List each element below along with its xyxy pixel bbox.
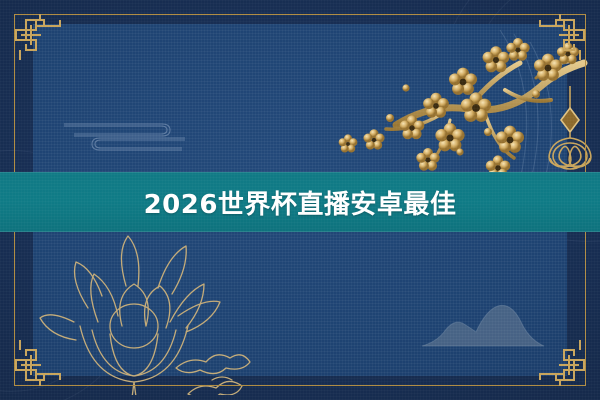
poster-banner: 2026世界杯直播安卓最佳 [0,0,600,400]
fret-corner-ornament-bottom-left [10,336,64,390]
poster-headline: 2026世界杯直播安卓最佳 [144,184,457,221]
fret-corner-ornament-top-right [536,10,590,64]
fret-corner-ornament-bottom-right [536,336,590,390]
fret-corner-ornament-top-left [10,10,64,64]
headline-band: 2026世界杯直播安卓最佳 [0,172,600,232]
